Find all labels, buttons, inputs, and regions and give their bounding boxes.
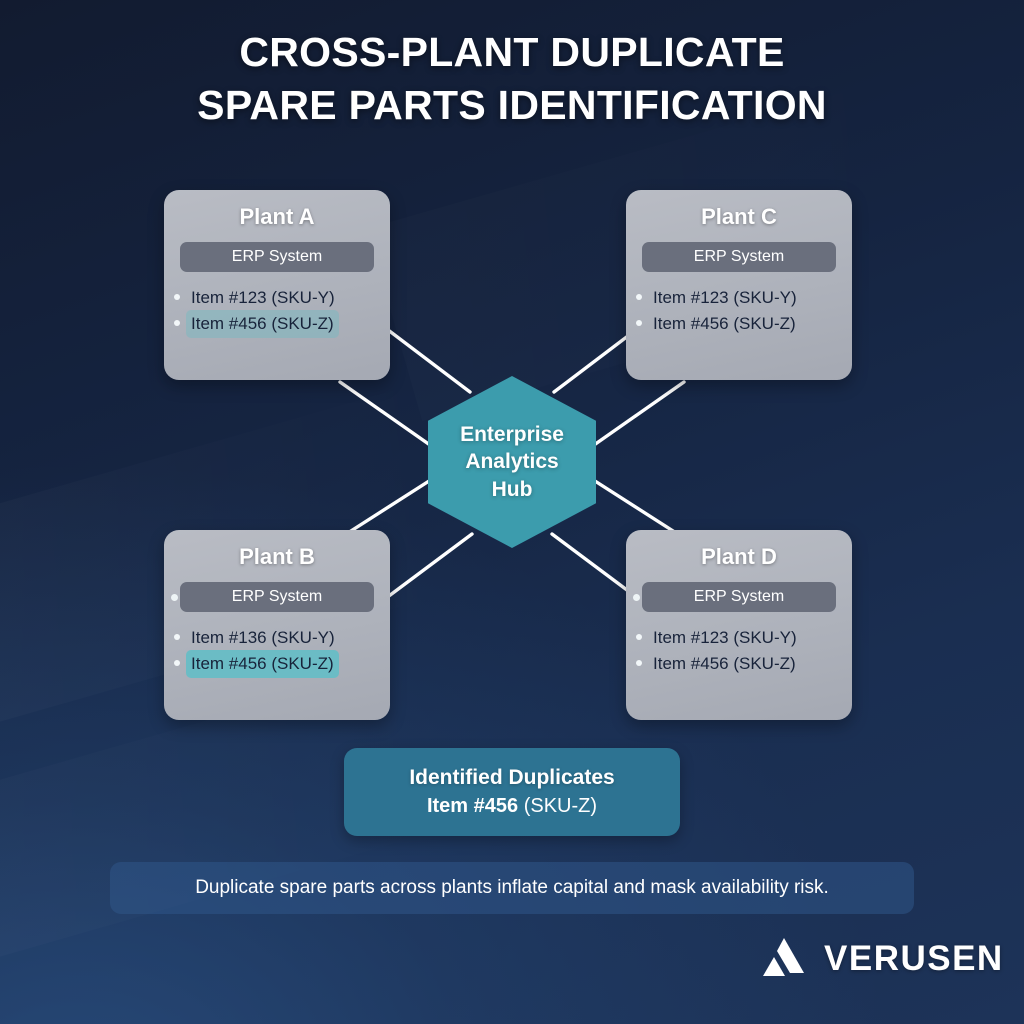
item-label: Item #136 (SKU-Y) <box>186 624 340 652</box>
item-label: Item #123 (SKU-Y) <box>648 284 802 312</box>
bullet-icon <box>174 320 180 326</box>
erp-system-pill: ERP System <box>180 242 374 272</box>
verusen-wordmark: VERUSEN <box>824 939 1004 979</box>
item-label: Item #456 (SKU-Z) <box>648 310 801 338</box>
list-item: Item #123 (SKU-Y) <box>648 624 852 650</box>
list-item: Item #123 (SKU-Y) <box>186 284 390 310</box>
list-item: Item #456 (SKU-Z) <box>648 310 852 336</box>
item-list: Item #123 (SKU-Y) Item #456 (SKU-Z) <box>164 284 390 336</box>
item-label: Item #123 (SKU-Y) <box>648 624 802 652</box>
bullet-icon <box>174 634 180 640</box>
verusen-logo: VERUSEN <box>757 936 1004 982</box>
duplicates-heading: Identified Duplicates <box>409 764 614 792</box>
plant-title: Plant C <box>626 204 852 230</box>
item-list: Item #123 (SKU-Y) Item #456 (SKU-Z) <box>626 284 852 336</box>
duplicates-item-id: Item #456 <box>427 795 518 817</box>
connector-line-plant-d <box>584 474 684 538</box>
item-label: Item #123 (SKU-Y) <box>186 284 340 312</box>
bullet-icon <box>174 294 180 300</box>
duplicates-item: Item #456 (SKU-Z) <box>427 793 597 820</box>
footer-caption: Duplicate spare parts across plants infl… <box>110 862 914 914</box>
erp-system-pill: ERP System <box>642 242 836 272</box>
verusen-mark-icon <box>757 936 811 982</box>
system-row: ERP System <box>180 582 374 612</box>
list-item: Item #123 (SKU-Y) <box>648 284 852 310</box>
item-label: Item #456 (SKU-Z) <box>648 650 801 678</box>
item-label: Item #456 (SKU-Z) <box>186 650 339 678</box>
plant-card-a[interactable]: Plant A ERP System Item #123 (SKU-Y) Ite… <box>164 190 390 380</box>
plant-card-b[interactable]: Plant B ERP System Item #136 (SKU-Y) Ite… <box>164 530 390 720</box>
erp-system-pill: ERP System <box>642 582 836 612</box>
system-row: ERP System <box>180 242 374 272</box>
bullet-icon <box>171 594 178 601</box>
plant-card-d[interactable]: Plant D ERP System Item #123 (SKU-Y) Ite… <box>626 530 852 720</box>
bullet-icon <box>174 660 180 666</box>
infographic-canvas: CROSS-PLANT DUPLICATE SPARE PARTS IDENTI… <box>0 0 1024 1024</box>
list-item: Item #136 (SKU-Y) <box>186 624 390 650</box>
hub-label: Enterprise Analytics Hub <box>460 421 564 503</box>
item-list: Item #123 (SKU-Y) Item #456 (SKU-Z) <box>626 624 852 676</box>
list-item: Item #456 (SKU-Z) <box>186 310 390 336</box>
identified-duplicates-banner: Identified Duplicates Item #456 (SKU-Z) <box>344 748 680 836</box>
bullet-icon <box>636 660 642 666</box>
bullet-icon <box>636 634 642 640</box>
erp-system-pill: ERP System <box>180 582 374 612</box>
plant-title: Plant D <box>626 544 852 570</box>
list-item: Item #456 (SKU-Z) <box>648 650 852 676</box>
list-item: Item #456 (SKU-Z) <box>186 650 390 676</box>
duplicates-item-sku: (SKU-Z) <box>518 795 597 817</box>
connector-line-plant-a <box>340 382 440 452</box>
system-row: ERP System <box>642 242 836 272</box>
bullet-icon <box>633 594 640 601</box>
item-label: Item #456 (SKU-Z) <box>186 310 339 338</box>
plant-card-c[interactable]: Plant C ERP System Item #123 (SKU-Y) Ite… <box>626 190 852 380</box>
system-row: ERP System <box>642 582 836 612</box>
item-list: Item #136 (SKU-Y) Item #456 (SKU-Z) <box>164 624 390 676</box>
bullet-icon <box>636 320 642 326</box>
bullet-icon <box>636 294 642 300</box>
connector-line-plant-b <box>340 474 440 538</box>
plant-title: Plant B <box>164 544 390 570</box>
connector-line-plant-c <box>584 382 684 452</box>
plant-title: Plant A <box>164 204 390 230</box>
